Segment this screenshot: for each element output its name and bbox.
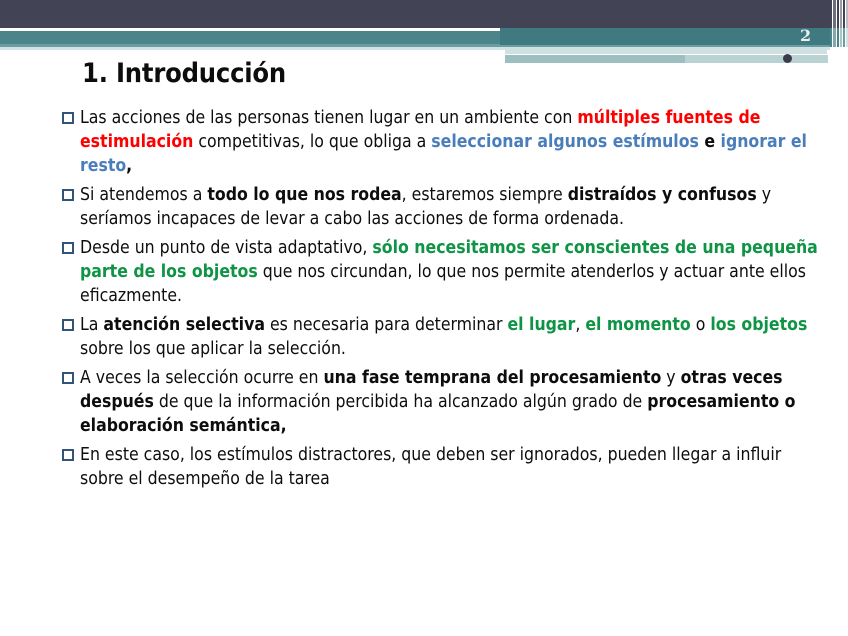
- text-run: y: [661, 368, 680, 388]
- bullet-square-icon: [62, 106, 80, 131]
- text-run: una fase temprana del procesamiento: [323, 368, 661, 388]
- accent-mid-bar-left: [505, 55, 685, 63]
- bullet-square-icon: [62, 236, 80, 261]
- text-run: ,: [575, 315, 585, 335]
- bullet-item: Desde un punto de vista adaptativo, sólo…: [62, 236, 822, 308]
- text-run: , estaremos siempre: [402, 185, 568, 205]
- accent-mid-bar-right: [685, 55, 828, 63]
- text-run: Si atendemos a: [80, 185, 207, 205]
- bullet-item: Las acciones de las personas tienen luga…: [62, 106, 822, 178]
- text-run: Las acciones de las personas tienen luga…: [80, 108, 577, 128]
- bullet-item: La atención selectiva es necesaria para …: [62, 313, 822, 361]
- text-run: Desde un punto de vista adaptativo,: [80, 238, 372, 258]
- bullet-item: Si atendemos a todo lo que nos rodea, es…: [62, 183, 822, 231]
- bullet-text: A veces la selección ocurre en una fase …: [80, 366, 822, 438]
- bullet-text: Las acciones de las personas tienen luga…: [80, 106, 822, 178]
- bullet-square-icon: [62, 313, 80, 338]
- stripe-1: [830, 0, 832, 70]
- stripe-2: [833, 0, 836, 70]
- text-run: En este caso, los estímulos distractores…: [80, 445, 781, 489]
- stripe-4: [840, 0, 842, 70]
- accent-dot: [783, 54, 792, 63]
- text-run: seleccionar algunos estímulos: [431, 132, 699, 152]
- right-edge-stripes: [830, 0, 848, 70]
- stripe-3: [837, 0, 839, 70]
- text-run: distraídos y confusos: [568, 185, 757, 205]
- bullet-square-icon: [62, 443, 80, 468]
- text-run: ,: [126, 156, 132, 176]
- bullet-text: En este caso, los estímulos distractores…: [80, 443, 822, 491]
- bullet-item: En este caso, los estímulos distractores…: [62, 443, 822, 491]
- text-run: o: [691, 315, 711, 335]
- accent-light-bar: [505, 48, 827, 54]
- text-run: La: [80, 315, 103, 335]
- text-run: A veces la selección ocurre en: [80, 368, 323, 388]
- text-run: todo lo que nos rodea: [207, 185, 401, 205]
- text-run: de que la información percibida ha alcan…: [154, 392, 647, 412]
- bullet-text: La atención selectiva es necesaria para …: [80, 313, 822, 361]
- text-run: el momento: [585, 315, 690, 335]
- text-run: es necesaria para determinar: [265, 315, 508, 335]
- text-run: los objetos: [710, 315, 807, 335]
- bullet-item: A veces la selección ocurre en una fase …: [62, 366, 822, 438]
- header-dark-band: [0, 0, 830, 28]
- bullet-list: Las acciones de las personas tienen luga…: [62, 106, 822, 496]
- slide-number: 2: [800, 26, 822, 46]
- text-run: atención selectiva: [103, 315, 265, 335]
- stripe-5: [843, 0, 845, 70]
- text-run: competitivas, lo que obliga a: [193, 132, 431, 152]
- bullet-text: Si atendemos a todo lo que nos rodea, es…: [80, 183, 822, 231]
- bullet-square-icon: [62, 183, 80, 208]
- page-title: 1. Introducción: [82, 58, 286, 89]
- text-run: sobre los que aplicar la selección.: [80, 339, 346, 359]
- text-run: el lugar: [508, 315, 576, 335]
- accent-teal-bar: [500, 28, 830, 45]
- bullet-square-icon: [62, 366, 80, 391]
- text-run: e: [699, 132, 721, 152]
- bullet-text: Desde un punto de vista adaptativo, sólo…: [80, 236, 822, 308]
